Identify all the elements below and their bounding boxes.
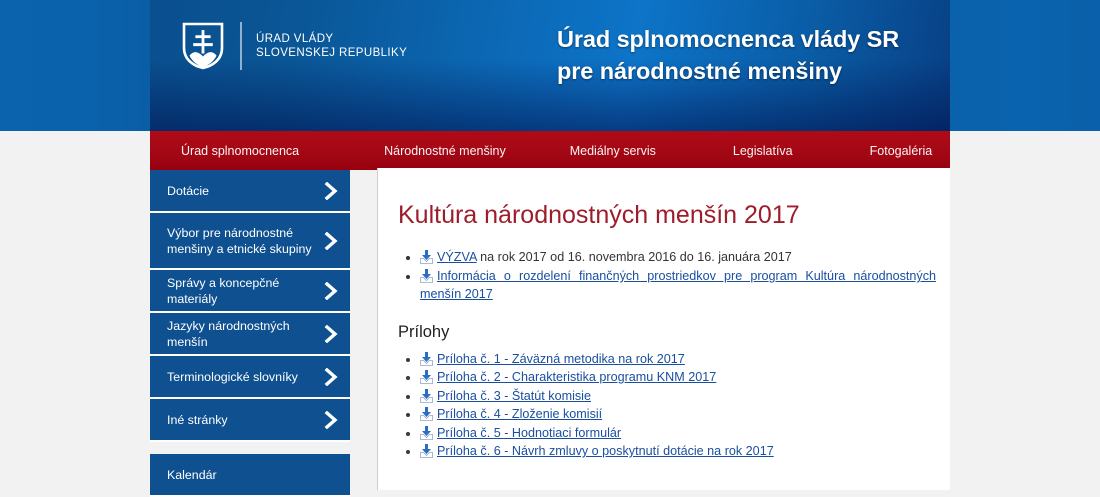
list-item: Príloha č. 6 - Návrh zmluvy o poskytnutí… [420, 442, 936, 460]
body-area: Dotácie Výbor pre národnostné menšiny a … [150, 170, 950, 490]
download-icon [420, 426, 433, 440]
link-priloha-2[interactable]: Príloha č. 2 - Charakteristika programu … [437, 370, 716, 384]
link-informacia-o-rozdeleni[interactable]: Informácia o rozdelení finančných prostr… [420, 269, 936, 301]
sidebar-item-terminologicke[interactable]: Terminologické slovníky [150, 356, 350, 399]
sidebar: Dotácie Výbor pre národnostné menšiny a … [150, 170, 352, 497]
download-icon [420, 269, 433, 283]
sidebar-item-label: Iné stránky [167, 412, 228, 428]
link-vyzva[interactable]: VÝZVA [437, 250, 477, 264]
download-icon [420, 407, 433, 421]
attachments-list: Príloha č. 1 - Záväzná metodika na rok 2… [378, 342, 950, 460]
nav-item-medialny-servis[interactable]: Mediálny servis [570, 144, 656, 158]
sidebar-spacer [150, 442, 350, 454]
list-item: Príloha č. 1 - Záväzná metodika na rok 2… [420, 350, 936, 368]
nav-list: Úrad splnomocnenca Národnostné menšiny M… [150, 131, 950, 170]
right-blue-band [950, 0, 1100, 131]
sidebar-item-spravy[interactable]: Správy a koncepčné materiály [150, 270, 350, 313]
branding-divider [240, 22, 242, 70]
sidebar-item-vybor[interactable]: Výbor pre národnostné menšiny a etnické … [150, 213, 350, 270]
attachments-title: Prílohy [378, 304, 950, 342]
chevron-right-icon [324, 232, 338, 250]
download-icon [420, 444, 433, 458]
download-icon [420, 250, 433, 264]
list-item: Príloha č. 2 - Charakteristika programu … [420, 368, 936, 386]
nav-item-narodnostne-mensiny[interactable]: Národnostné menšiny [384, 144, 506, 158]
right-gray-band [950, 131, 1100, 490]
left-gray-band [0, 131, 150, 490]
site-banner: ÚRAD VLÁDY SLOVENSKEJ REPUBLIKY Úrad spl… [150, 0, 950, 131]
nav-item-fotogaleria[interactable]: Fotogaléria [870, 144, 933, 158]
sidebar-item-label: Jazyky národnostných menšín [167, 318, 314, 350]
sidebar-item-label: Správy a koncepčné materiály [167, 275, 314, 307]
chevron-right-icon [324, 282, 338, 300]
chevron-right-icon [324, 325, 338, 343]
list-item: VÝZVA na rok 2017 od 16. novembra 2016 d… [420, 248, 936, 266]
sidebar-item-label: Výbor pre národnostné menšiny a etnické … [167, 225, 314, 257]
sidebar-item-dotacie[interactable]: Dotácie [150, 170, 350, 213]
download-icon [420, 352, 433, 366]
page-title: Kultúra národnostných menšín 2017 [378, 168, 950, 230]
org-line-2: SLOVENSKEJ REPUBLIKY [256, 46, 407, 60]
link-priloha-3[interactable]: Príloha č. 3 - Štatút komisie [437, 389, 591, 403]
nav-item-legislativa[interactable]: Legislatíva [733, 144, 793, 158]
sidebar-item-label: Dotácie [167, 183, 209, 199]
list-item: Príloha č. 3 - Štatút komisie [420, 387, 936, 405]
download-icon [420, 370, 433, 384]
link-priloha-5[interactable]: Príloha č. 5 - Hodnotiaci formulár [437, 426, 621, 440]
banner-title-line-1: Úrad splnomocnenca vlády SR [557, 23, 899, 55]
page-root: ÚRAD VLÁDY SLOVENSKEJ REPUBLIKY Úrad spl… [0, 0, 1100, 490]
link-priloha-1[interactable]: Príloha č. 1 - Záväzná metodika na rok 2… [437, 352, 685, 366]
intro-document-list: VÝZVA na rok 2017 od 16. novembra 2016 d… [378, 230, 950, 303]
left-blue-band [0, 0, 150, 131]
link-priloha-4[interactable]: Príloha č. 4 - Zloženie komisií [437, 407, 602, 421]
org-line-1: ÚRAD VLÁDY [256, 32, 407, 46]
banner-title-line-2: pre národnostné menšiny [557, 55, 899, 87]
intro-trailing-text: na rok 2017 od 16. novembra 2016 do 16. … [477, 250, 792, 264]
nav-item-urad-splnomocnenca[interactable]: Úrad splnomocnenca [181, 144, 299, 158]
org-name: ÚRAD VLÁDY SLOVENSKEJ REPUBLIKY [256, 32, 407, 60]
sidebar-item-label: Terminologické slovníky [167, 369, 298, 385]
chevron-right-icon [324, 411, 338, 429]
sidebar-item-ine-stranky[interactable]: Iné stránky [150, 399, 350, 442]
download-icon [420, 389, 433, 403]
branding-block: ÚRAD VLÁDY SLOVENSKEJ REPUBLIKY [182, 22, 407, 70]
list-item: Príloha č. 4 - Zloženie komisií [420, 405, 936, 423]
link-priloha-6[interactable]: Príloha č. 6 - Návrh zmluvy o poskytnutí… [437, 444, 774, 458]
sidebar-item-kalendar[interactable]: Kalendár [150, 454, 350, 497]
sidebar-item-label: Kalendár [167, 467, 217, 483]
slovak-coat-of-arms-icon [182, 22, 224, 70]
list-item: Príloha č. 5 - Hodnotiaci formulár [420, 424, 936, 442]
chevron-right-icon [324, 182, 338, 200]
main-navigation: Úrad splnomocnenca Národnostné menšiny M… [150, 131, 950, 170]
chevron-right-icon [324, 368, 338, 386]
content-panel: Kultúra národnostných menšín 2017 VÝZVA … [378, 168, 950, 490]
list-item: Informácia o rozdelení finančných prostr… [420, 267, 936, 303]
sidebar-item-jazyky[interactable]: Jazyky národnostných menšín [150, 313, 350, 356]
banner-title: Úrad splnomocnenca vlády SR pre národnos… [557, 23, 899, 87]
